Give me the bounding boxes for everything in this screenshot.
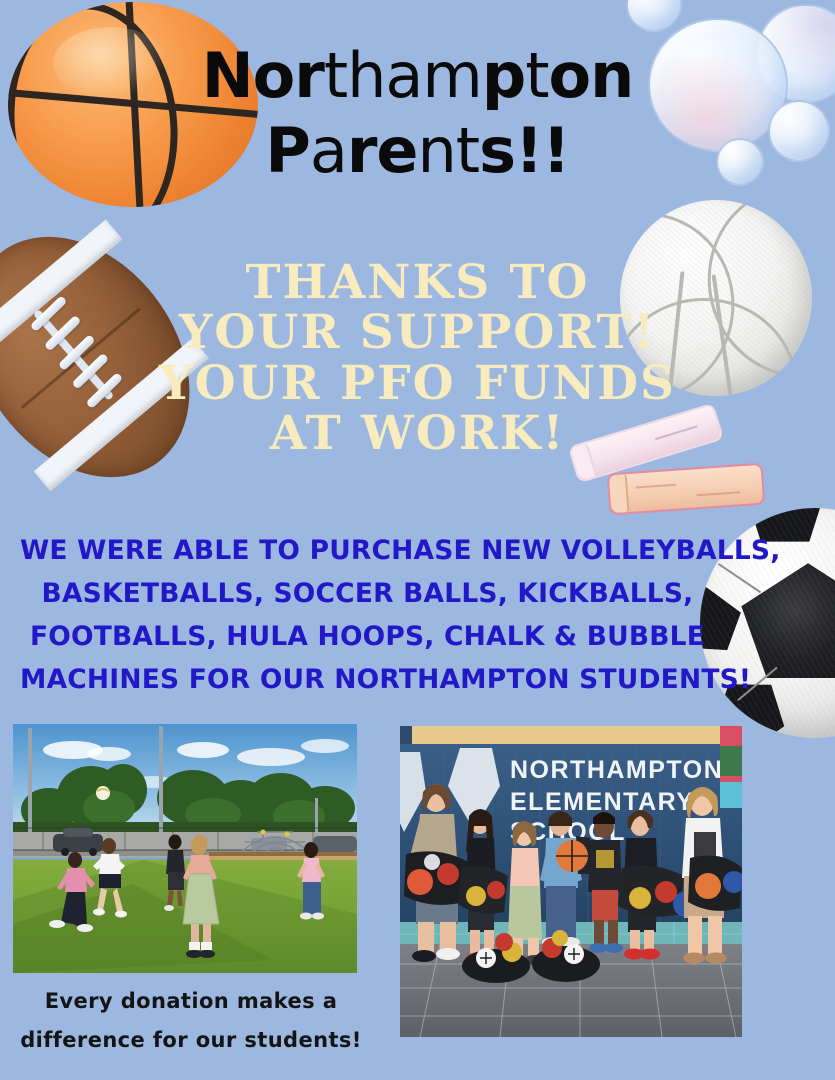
body-line: BASKETBALLS, SOCCER BALLS, KICKBALLS,: [20, 573, 715, 616]
flyer-headline: Northampton Parents!!: [0, 44, 835, 182]
subhead-line: THANKS TO: [0, 258, 835, 308]
headline-seg: re: [347, 114, 418, 187]
headline-line-2: Parents!!: [0, 119, 835, 182]
chalk-stick-peach-icon: [607, 463, 766, 516]
headline-seg: p: [482, 39, 525, 112]
body-line: WE WERE ABLE TO PURCHASE NEW VOLLEYBALLS…: [20, 530, 715, 573]
photo-group-with-equipment: NORTHAMPTON ELEMENTARY SCHOOL: [400, 726, 742, 1037]
headline-seg: Nor: [202, 39, 324, 112]
flyer-caption: Every donation makes a difference for ou…: [16, 982, 366, 1060]
photo-students-playing-volleyball: [13, 724, 357, 973]
body-line: MACHINES FOR OUR NORTHAMPTON STUDENTS!: [20, 659, 715, 702]
flyer-canvas: Northampton Parents!! THANKS TO YOUR SUP…: [0, 0, 835, 1080]
subhead-line: YOUR PFO FUNDS: [0, 359, 835, 409]
body-line: FOOTBALLS, HULA HOOPS, CHALK & BUBBLE: [20, 616, 715, 659]
subhead-line: AT WORK!: [0, 409, 835, 459]
headline-seg: s!!: [479, 114, 569, 187]
caption-line: difference for our students!: [16, 1021, 366, 1060]
flyer-body-text: WE WERE ABLE TO PURCHASE NEW VOLLEYBALLS…: [20, 530, 715, 702]
headline-seg: on: [549, 39, 634, 112]
headline-seg: t: [525, 39, 548, 112]
headline-seg: tham: [324, 39, 482, 112]
svg-text:NORTHAMPTON: NORTHAMPTON: [510, 756, 723, 784]
subhead-line: YOUR SUPPORT!: [0, 308, 835, 358]
caption-line: Every donation makes a: [16, 982, 366, 1021]
svg-text:ELEMENTARY: ELEMENTARY: [510, 788, 694, 816]
headline-line-1: Northampton: [0, 44, 835, 107]
headline-seg: a: [310, 114, 347, 187]
headline-seg: P: [265, 114, 309, 187]
bubble-icon: [626, 0, 682, 32]
headline-seg: nt: [418, 114, 480, 187]
flyer-subheading: THANKS TO YOUR SUPPORT! YOUR PFO FUNDS A…: [0, 258, 835, 459]
